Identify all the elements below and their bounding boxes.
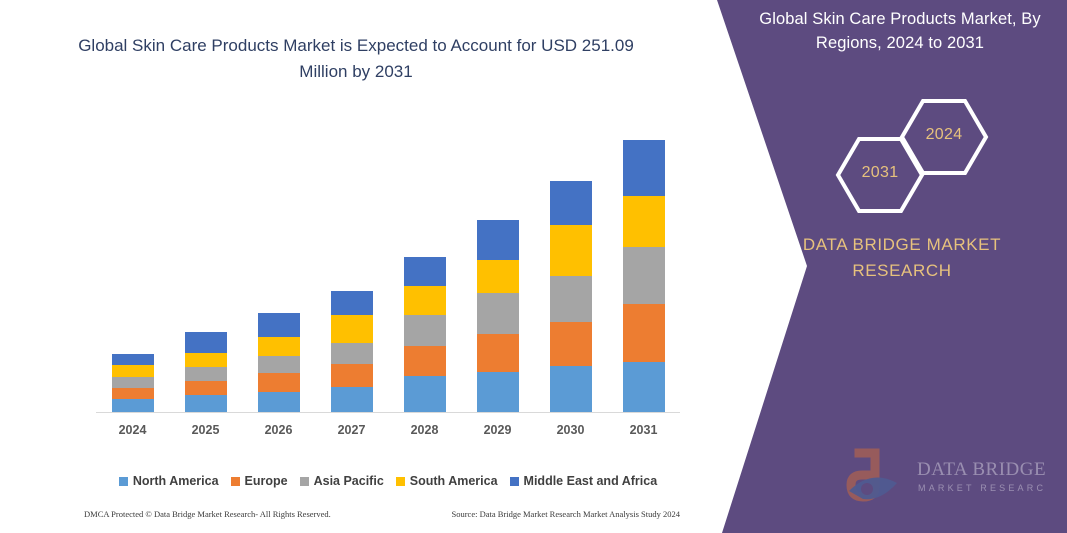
bar-segment	[477, 220, 519, 260]
bar-segment	[550, 276, 592, 323]
bar-segment	[550, 181, 592, 225]
bar-group	[331, 291, 373, 412]
bar-segment	[623, 362, 665, 412]
legend-swatch-icon	[300, 477, 309, 486]
watermark-text-line1: DATA BRIDGE	[917, 459, 1045, 480]
x-axis-label: 2031	[609, 423, 679, 437]
bar-group	[404, 257, 446, 412]
watermark-text-line2: MARKET RESEARCH	[918, 483, 1045, 493]
bar-segment	[623, 304, 665, 362]
bar-segment	[550, 366, 592, 412]
hexagon-badge-2031: 2031	[835, 136, 925, 219]
bar-segment	[404, 315, 446, 346]
legend-label: Asia Pacific	[314, 474, 384, 488]
bar-segment	[112, 388, 154, 400]
bar-segment	[112, 377, 154, 388]
bar-segment	[258, 373, 300, 391]
bar-segment	[477, 334, 519, 372]
stacked-bar-chart	[96, 120, 680, 413]
panel-title: Global Skin Care Products Market, By Reg…	[745, 8, 1055, 56]
footer-copyright: DMCA Protected © Data Bridge Market Rese…	[84, 509, 331, 519]
chart-panel: Global Skin Care Products Market is Expe…	[0, 0, 700, 533]
footer-source: Source: Data Bridge Market Research Mark…	[451, 509, 680, 519]
legend-swatch-icon	[510, 477, 519, 486]
infographic-root: Global Skin Care Products Market is Expe…	[0, 0, 1067, 533]
bar-segment	[112, 399, 154, 412]
hexagon-label-2031: 2031	[835, 164, 925, 182]
legend-swatch-icon	[119, 477, 128, 486]
legend-swatch-icon	[231, 477, 240, 486]
bar-segment	[331, 291, 373, 314]
legend-label: North America	[133, 474, 219, 488]
legend-item: Europe	[231, 474, 288, 488]
bar-group	[550, 181, 592, 412]
x-axis-label: 2027	[317, 423, 387, 437]
bar-segment	[185, 381, 227, 396]
x-axis-label: 2026	[244, 423, 314, 437]
bar-segment	[331, 343, 373, 364]
bar-segment	[477, 260, 519, 293]
x-axis-label: 2029	[463, 423, 533, 437]
hexagon-badges: 2024 2031	[737, 96, 1067, 206]
bar-segment	[185, 367, 227, 381]
x-axis-label: 2025	[171, 423, 241, 437]
legend-label: Europe	[245, 474, 288, 488]
bar-group	[477, 220, 519, 412]
footer: DMCA Protected © Data Bridge Market Rese…	[84, 506, 680, 522]
bar-segment	[185, 332, 227, 352]
bar-segment	[258, 356, 300, 374]
bar-segment	[112, 365, 154, 377]
brand-name: DATA BRIDGE MARKET RESEARCH	[747, 232, 1057, 283]
bar-segment	[623, 140, 665, 196]
bar-segment	[185, 353, 227, 368]
legend-item: Middle East and Africa	[510, 474, 658, 488]
bar-segment	[404, 286, 446, 314]
bar-group	[185, 332, 227, 412]
bar-segment	[258, 392, 300, 412]
bar-segment	[331, 315, 373, 343]
data-bridge-logo-watermark: DATA BRIDGE MARKET RESEARCH	[845, 447, 1045, 507]
bar-segment	[404, 346, 446, 376]
x-axis-label: 2028	[390, 423, 460, 437]
bar-segment	[185, 395, 227, 412]
legend-swatch-icon	[396, 477, 405, 486]
legend-label: Middle East and Africa	[524, 474, 658, 488]
bar-segment	[404, 376, 446, 412]
bar-segment	[112, 354, 154, 366]
x-axis-labels: 20242025202620272028202920302031	[96, 423, 680, 443]
x-axis-line	[96, 412, 680, 413]
x-axis-label: 2024	[98, 423, 168, 437]
legend-label: South America	[410, 474, 498, 488]
bar-segment	[404, 257, 446, 286]
bar-segment	[331, 387, 373, 412]
brand-name-line1: DATA BRIDGE MARKET	[747, 232, 1057, 258]
bar-segment	[623, 247, 665, 304]
x-axis-label: 2030	[536, 423, 606, 437]
legend-item: North America	[119, 474, 219, 488]
bar-segment	[623, 196, 665, 247]
right-purple-panel: Global Skin Care Products Market, By Reg…	[687, 0, 1067, 533]
bar-segment	[258, 337, 300, 355]
bar-segment	[258, 313, 300, 337]
bar-segment	[477, 372, 519, 412]
legend-item: Asia Pacific	[300, 474, 384, 488]
bar-group	[112, 354, 154, 412]
bar-group	[623, 140, 665, 413]
bar-segment	[550, 322, 592, 366]
chart-title: Global Skin Care Products Market is Expe…	[58, 33, 654, 84]
brand-name-line2: RESEARCH	[747, 258, 1057, 284]
bar-segment	[331, 364, 373, 386]
legend-item: South America	[396, 474, 498, 488]
logo-mark-icon	[849, 453, 897, 499]
bar-segment	[477, 293, 519, 334]
chart-legend: North AmericaEuropeAsia PacificSouth Ame…	[96, 472, 680, 490]
bar-group	[258, 313, 300, 412]
bar-segment	[550, 225, 592, 276]
